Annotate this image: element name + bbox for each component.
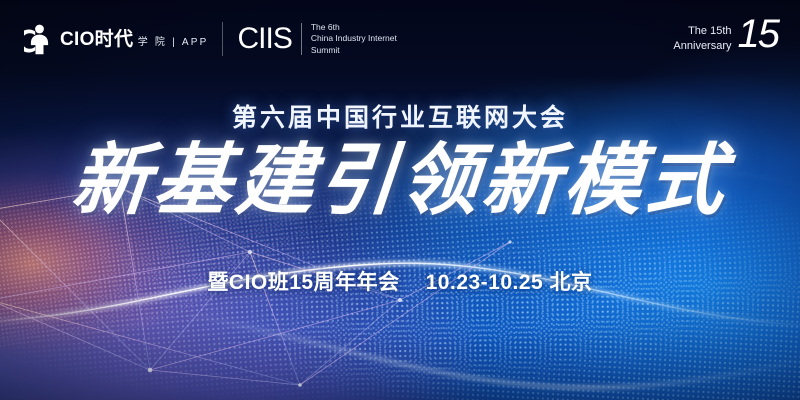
vertical-rule-icon (301, 23, 302, 55)
conference-banner: CIO时代 学 院 | APP CIIS The 6th China Indus… (0, 0, 800, 400)
ciis-wordmark: CIIS (237, 24, 291, 54)
anniversary-badge: The 15th Anniversary 15 (673, 24, 778, 54)
person-in-c-icon (24, 22, 54, 56)
cio-primary-text: CIO时代 (60, 29, 133, 50)
subtitle-row: 暨CIO班15周年年会 10.23-10.25 北京 (0, 266, 800, 296)
ciis-subtitle-line2: China Industry Internet (311, 33, 397, 43)
anniversary-number: 15 (738, 18, 779, 51)
cio-wordmark: CIO时代 学 院 | APP (60, 30, 208, 49)
ciis-subtitle-line3: Summit (311, 45, 340, 55)
ciis-subtitle-line1: The 6th (311, 22, 340, 32)
event-title: 第六届中国行业互联网大会 (0, 98, 800, 134)
ciis-logo: CIIS The 6th China Industry Internet Sum… (237, 22, 396, 56)
anniversary-line2: Anniversary (673, 40, 731, 52)
anniversary-line1: The 15th (688, 25, 731, 37)
logo-row: CIO时代 学 院 | APP CIIS The 6th China Indus… (24, 22, 397, 56)
banner-content: CIO时代 学 院 | APP CIIS The 6th China Indus… (0, 0, 800, 400)
ciis-subtitle: The 6th China Industry Internet Summit (311, 22, 397, 56)
cio-logo: CIO时代 学 院 | APP (24, 22, 208, 56)
subtitle-left: 暨CIO班15周年年会 (207, 266, 399, 296)
subtitle-right: 10.23-10.25 北京 (426, 266, 593, 296)
cio-secondary-text: 学 院 | APP (138, 37, 209, 48)
vertical-divider-icon (222, 22, 223, 56)
headline-calligraphy: 新基建引领新模式 (0, 140, 800, 222)
anniversary-text: The 15th Anniversary (673, 24, 731, 54)
